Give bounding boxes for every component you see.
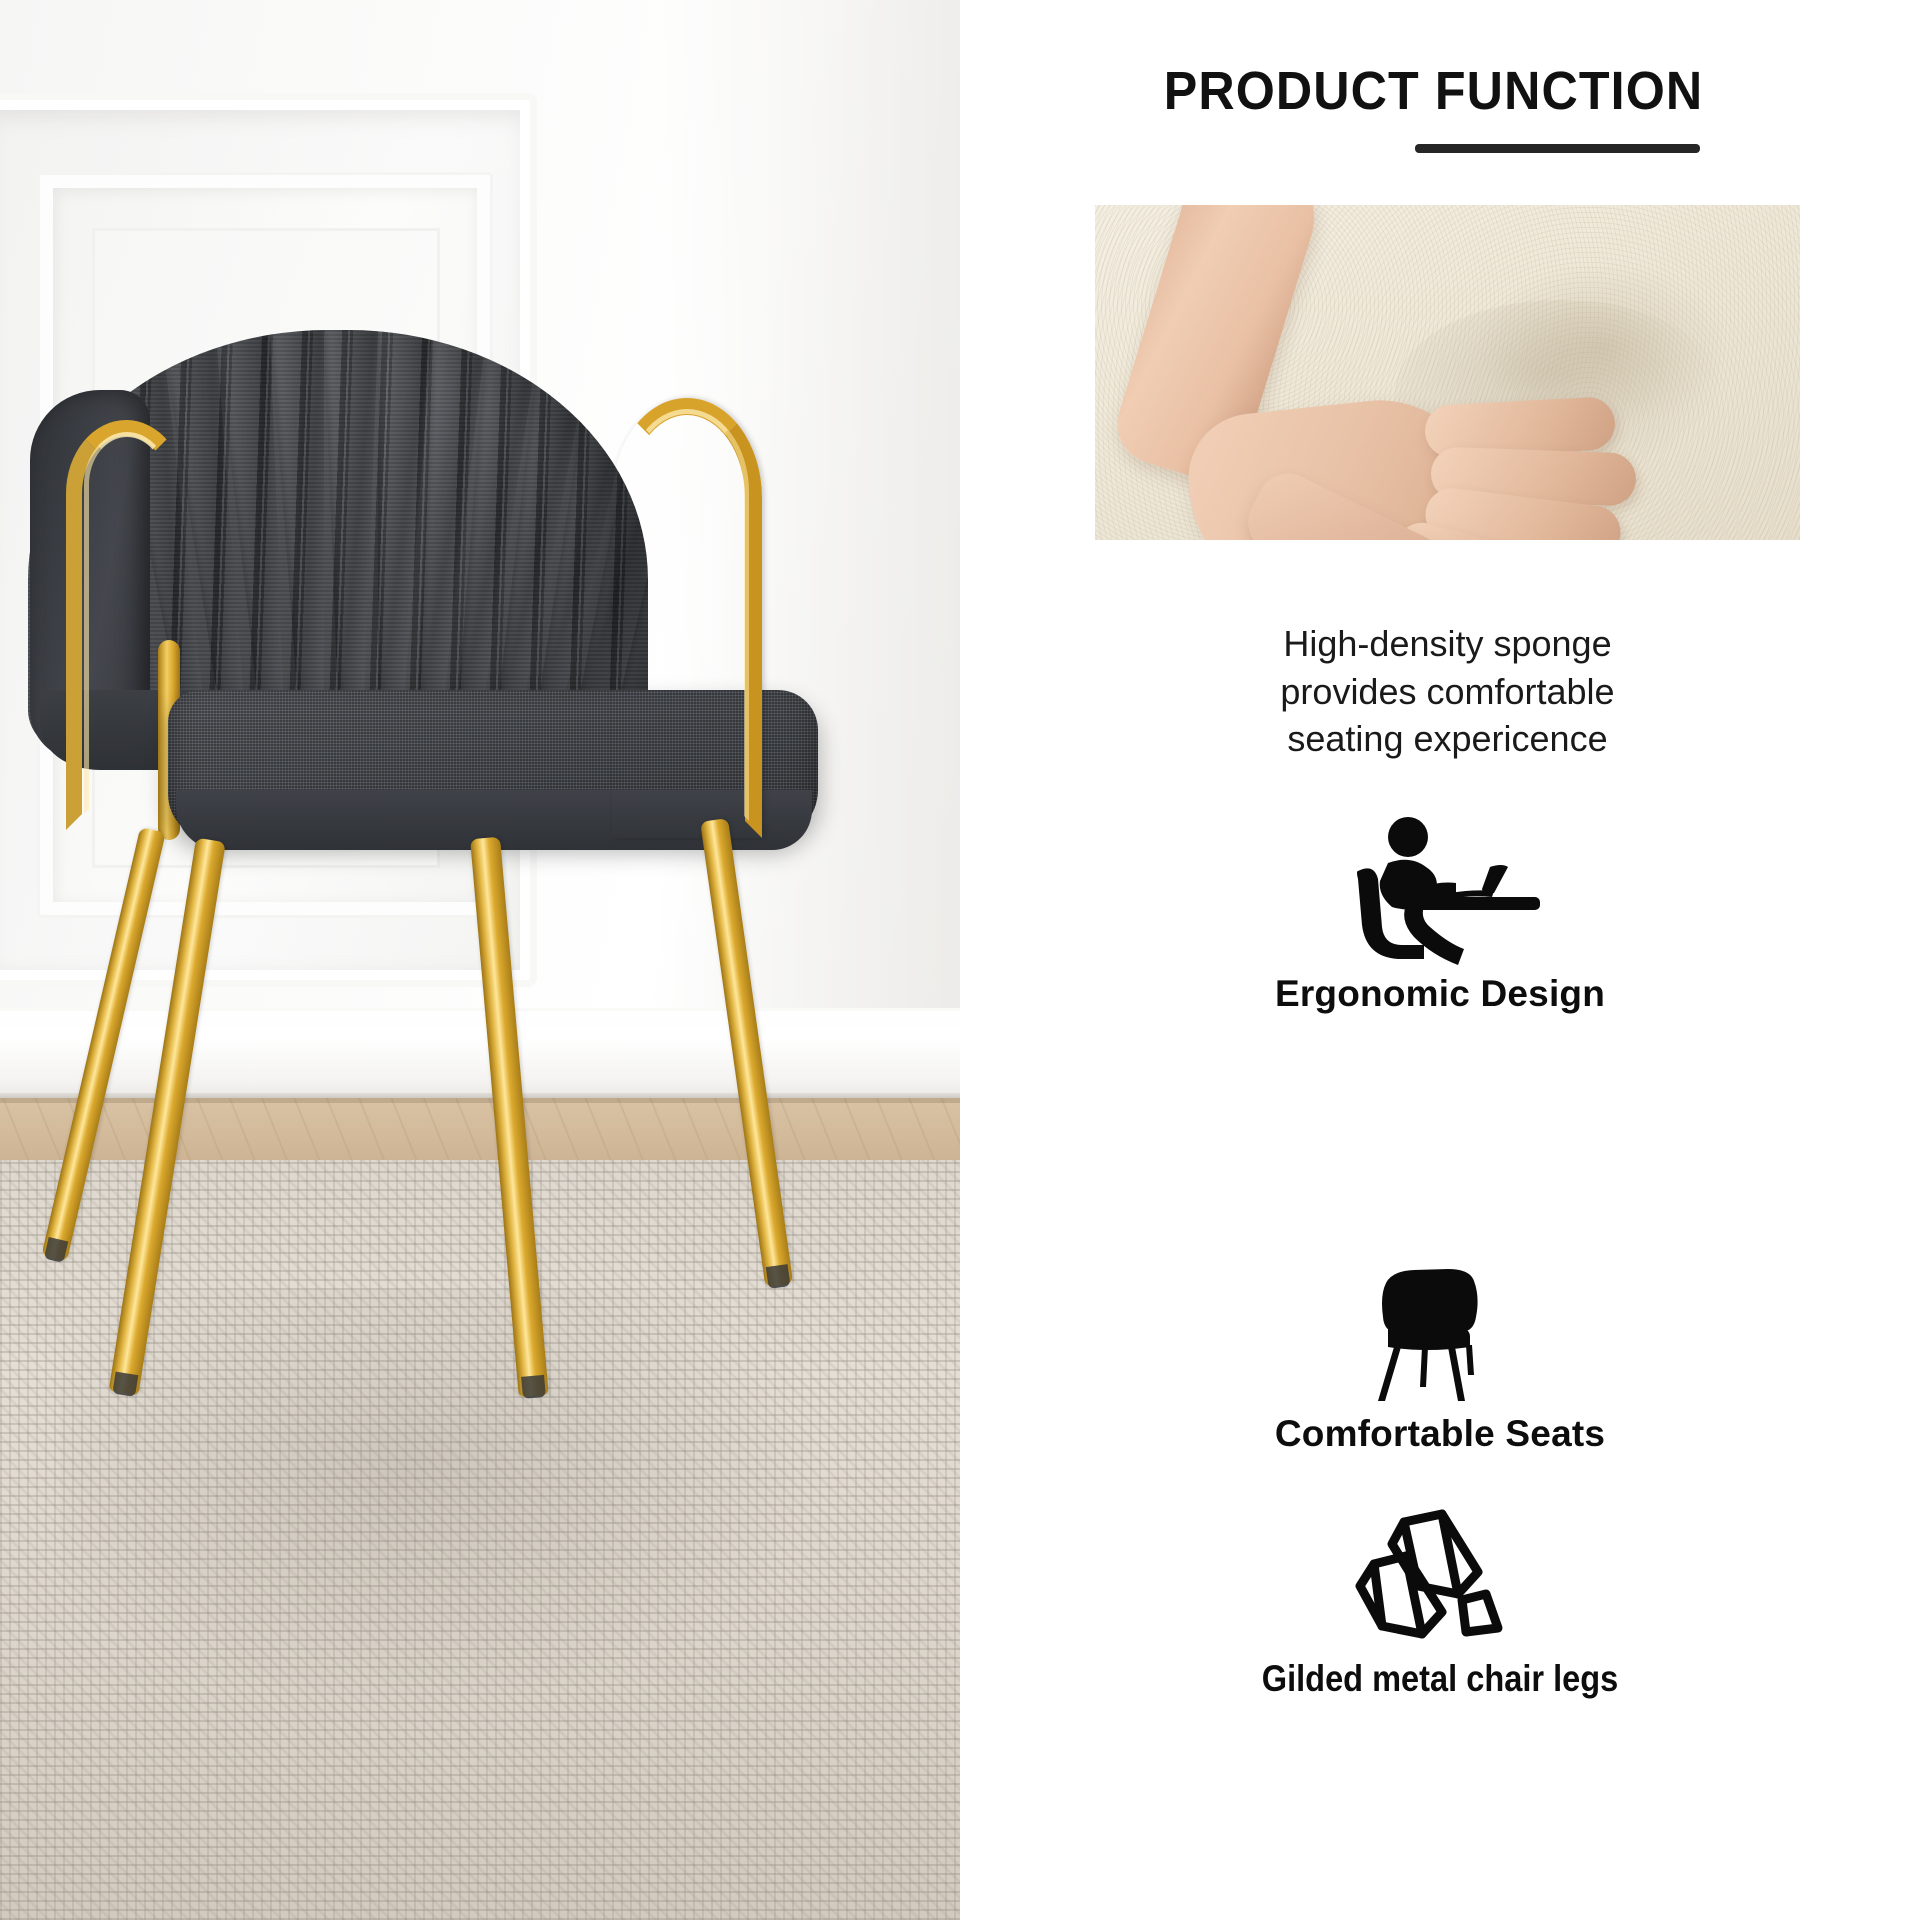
product-infographic-page: PRODUCT FUNCTION High-density sponge pro… <box>0 0 1920 1920</box>
feature-comfortable-seats: Comfortable Seats <box>960 1255 1920 1455</box>
sponge-caption: High-density sponge provides comfortable… <box>1095 620 1800 763</box>
chair <box>0 0 960 1920</box>
chair-silhouette-icon <box>1330 1255 1550 1405</box>
title-underline-rule <box>1415 144 1700 153</box>
feature-gilded-metal-legs: Gilded metal chair legs <box>960 1500 1920 1700</box>
sponge-caption-line-3: seating expericence <box>1095 715 1800 763</box>
chair-leg-back-right <box>700 818 793 1287</box>
chair-leg-front-right <box>470 837 549 1397</box>
hand-pressing-sponge-photo <box>1095 205 1800 540</box>
feature-label: Comfortable Seats <box>960 1413 1920 1455</box>
person-sitting-at-desk-icon <box>1330 815 1550 965</box>
page-title: PRODUCT FUNCTION <box>994 60 1887 122</box>
feature-ergonomic-design: Ergonomic Design <box>960 815 1920 1015</box>
content-panel: PRODUCT FUNCTION High-density sponge pro… <box>960 0 1920 1920</box>
chair-gold-arm-right <box>612 398 762 838</box>
feature-label: Gilded metal chair legs <box>1018 1658 1863 1700</box>
sponge-caption-line-2: provides comfortable <box>1095 668 1800 716</box>
gold-bars-icon <box>1330 1500 1550 1650</box>
chair-product-photo <box>0 0 960 1920</box>
feature-label: Ergonomic Design <box>960 973 1920 1015</box>
sponge-caption-line-1: High-density sponge <box>1095 620 1800 668</box>
